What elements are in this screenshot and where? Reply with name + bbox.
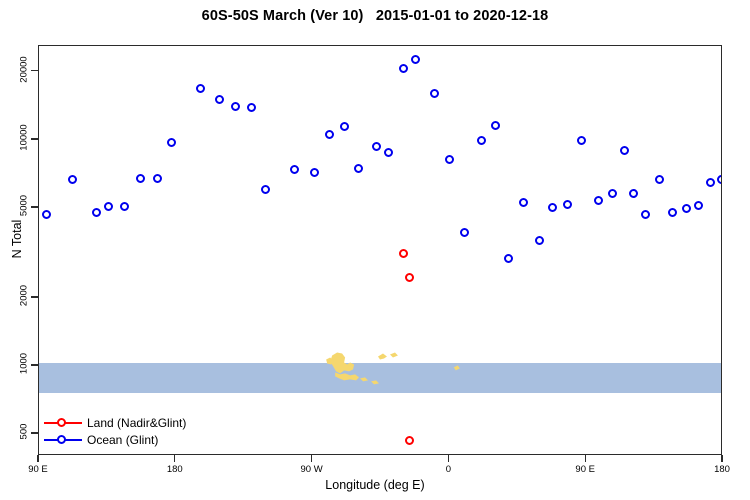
data-point — [42, 210, 51, 219]
legend-item-ocean[interactable]: Ocean (Glint) — [42, 431, 186, 448]
ocean-reference-band — [39, 363, 721, 393]
page-title: 60S-50S March (Ver 10) 2015-01-01 to 202… — [0, 8, 750, 24]
data-point — [120, 202, 129, 211]
data-point — [340, 122, 349, 131]
y-axis-label: N Total — [10, 194, 24, 284]
data-point — [261, 185, 270, 194]
y-tick-label: 20000 — [19, 49, 30, 89]
data-point — [577, 136, 586, 145]
data-point — [247, 103, 256, 112]
data-point — [325, 130, 334, 139]
data-point — [460, 228, 469, 237]
x-tick-label: 180 — [167, 464, 183, 475]
data-point — [655, 175, 664, 184]
data-point — [504, 254, 513, 263]
data-point — [668, 208, 677, 217]
x-tick-mark — [448, 455, 449, 462]
legend-item-land[interactable]: Land (Nadir&Glint) — [42, 414, 186, 431]
scatter-plot-figure: 60S-50S March (Ver 10) 2015-01-01 to 202… — [0, 0, 750, 500]
y-tick-mark — [31, 206, 38, 207]
data-point — [136, 174, 145, 183]
data-point — [354, 164, 363, 173]
data-point — [717, 175, 722, 184]
data-point — [563, 200, 572, 209]
data-point — [641, 210, 650, 219]
y-tick-mark — [31, 138, 38, 139]
y-tick-mark — [31, 70, 38, 71]
data-point — [290, 165, 299, 174]
y-tick-label: 10000 — [19, 117, 30, 157]
y-tick-mark — [31, 432, 38, 433]
data-point — [310, 168, 319, 177]
data-point — [430, 89, 439, 98]
y-tick-label: 1000 — [19, 344, 30, 384]
data-point — [215, 95, 224, 104]
data-point — [411, 55, 420, 64]
x-tick-mark — [311, 455, 312, 462]
data-point — [620, 146, 629, 155]
y-tick-mark — [31, 296, 38, 297]
x-tick-mark — [585, 455, 586, 462]
data-point — [491, 121, 500, 130]
data-point — [104, 202, 113, 211]
x-tick-mark — [37, 455, 38, 462]
data-point — [372, 142, 381, 151]
data-point — [68, 175, 77, 184]
legend-label-land: Land (Nadir&Glint) — [84, 416, 186, 430]
x-tick-label: 180 — [714, 464, 730, 475]
y-tick-mark — [31, 364, 38, 365]
data-point — [231, 102, 240, 111]
data-point — [594, 196, 603, 205]
data-point — [153, 174, 162, 183]
data-point — [445, 155, 454, 164]
data-point — [519, 198, 528, 207]
x-tick-mark — [721, 455, 722, 462]
y-tick-label: 500 — [19, 412, 30, 452]
data-point — [399, 64, 408, 73]
data-point — [682, 204, 691, 213]
legend: Land (Nadir&Glint) Ocean (Glint) — [40, 412, 190, 450]
data-point — [399, 249, 408, 258]
legend-marker-land-icon — [42, 416, 84, 429]
x-tick-label: 90 E — [575, 464, 595, 475]
data-point — [196, 84, 205, 93]
data-point — [694, 201, 703, 210]
data-point — [405, 436, 414, 445]
data-point — [629, 189, 638, 198]
data-point — [477, 136, 486, 145]
data-point — [608, 189, 617, 198]
plot-area — [38, 45, 722, 455]
data-point — [706, 178, 715, 187]
legend-label-ocean: Ocean (Glint) — [84, 433, 158, 447]
data-point — [535, 236, 544, 245]
data-point — [167, 138, 176, 147]
data-point — [548, 203, 557, 212]
legend-marker-ocean-icon — [42, 433, 84, 446]
data-point — [92, 208, 101, 217]
x-tick-label: 0 — [446, 464, 451, 475]
data-point — [384, 148, 393, 157]
x-axis-label: Longitude (deg E) — [0, 478, 750, 492]
data-point — [405, 273, 414, 282]
x-tick-mark — [174, 455, 175, 462]
x-tick-label: 90 E — [28, 464, 48, 475]
x-tick-label: 90 W — [301, 464, 323, 475]
